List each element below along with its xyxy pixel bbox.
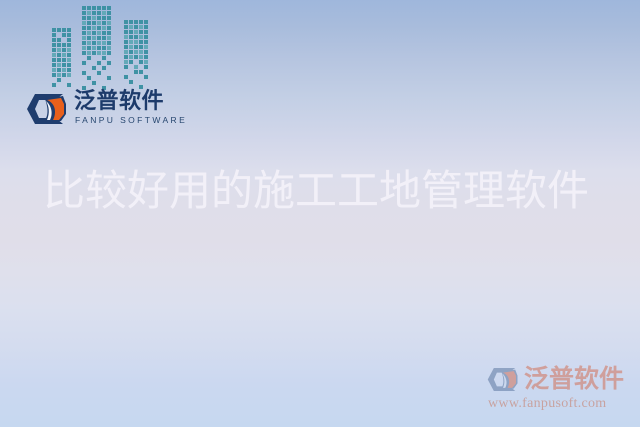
- watermark-logo-mark-icon: [486, 365, 520, 394]
- fanpu-software-logo: 泛普软件 FANPU SOFTWARE: [25, 88, 175, 132]
- watermark-chinese-name: 泛普软件: [524, 365, 624, 394]
- fanpu-logo-text: 泛普软件 FANPU SOFTWARE: [74, 88, 174, 126]
- fanpu-logo-mark-icon: [25, 90, 69, 128]
- watermark-url: www.fanpusoft.com: [488, 395, 607, 413]
- fanpu-logo-chinese: 泛普软件: [74, 88, 174, 114]
- page-title: 比较好用的施工工地管理软件: [43, 168, 603, 216]
- slide-canvas: 泛普软件 FANPU SOFTWARE 比较好用的施工工地管理软件 泛普软件 w…: [0, 0, 640, 427]
- watermark-logo-row: 泛普软件: [486, 365, 624, 394]
- pixel-skyline-graphic: [52, 2, 152, 90]
- fanpusoft-watermark: 泛普软件 www.fanpusoft.com: [486, 361, 634, 419]
- pixel-skyline-svg: [52, 2, 152, 90]
- fanpu-logo-english: FANPU SOFTWARE: [74, 114, 174, 126]
